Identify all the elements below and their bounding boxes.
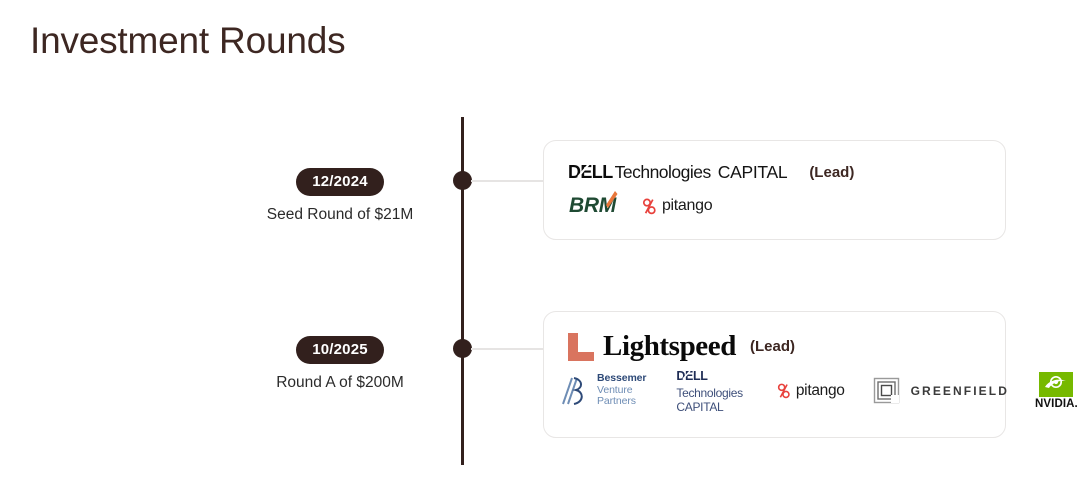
round-1-lead-investor-row: DELL Technologies CAPITAL (Lead) <box>568 162 854 183</box>
investment-rounds-page: Investment Rounds 12/2024 Seed Round of … <box>0 0 1080 480</box>
greenfield-mark-icon <box>873 377 900 404</box>
nvidia-wordmark: NVIDIA. <box>1035 398 1078 410</box>
brm-accent-icon <box>604 191 618 209</box>
nvidia-eye-icon <box>1039 372 1073 397</box>
round-1-description: Seed Round of $21M <box>245 206 435 224</box>
pitango-mark-icon <box>777 383 791 399</box>
bessemer-mark-icon <box>558 374 591 407</box>
dell-wordmark: DELL <box>568 162 613 183</box>
round-2-description: Round A of $200M <box>245 374 435 392</box>
round-1-date-badge: 12/2024 <box>296 168 384 196</box>
pitango-logo-round-2: pitango <box>777 382 845 400</box>
dell-wordmark-small: DELL <box>676 369 707 384</box>
lightspeed-logo: Lightspeed <box>566 330 736 363</box>
lightspeed-wordmark: Lightspeed <box>603 330 736 363</box>
round-2-secondary-investors-row: Bessemer Venture Partners DELL Technolog… <box>558 367 1078 414</box>
round-1-lead-tag: (Lead) <box>809 164 854 181</box>
bessemer-venture-partners-logo: Bessemer Venture Partners <box>558 373 646 408</box>
timeline-dot-round-1[interactable] <box>453 171 472 190</box>
dell-slash-icon-small <box>682 370 691 380</box>
round-1-label-block: 12/2024 Seed Round of $21M <box>245 168 435 224</box>
round-1-secondary-investors-row: BRM pitango <box>569 194 712 218</box>
round-2-investors-card: Lightspeed (Lead) Bessemer Venture Partn… <box>543 311 1006 438</box>
timeline-connector-1 <box>471 180 545 182</box>
lightspeed-mark-icon <box>566 332 595 362</box>
round-2-lead-investor-row: Lightspeed (Lead) <box>566 330 795 363</box>
round-2-label-block: 10/2025 Round A of $200M <box>245 336 435 392</box>
round-2-date-badge: 10/2025 <box>296 336 384 364</box>
pitango-logo: pitango <box>642 197 712 215</box>
timeline-axis <box>461 117 464 465</box>
bessemer-line-1: Bessemer <box>597 373 646 385</box>
greenfield-logo: GREENFIELD <box>873 377 1009 404</box>
round-2-lead-tag: (Lead) <box>750 338 795 355</box>
bessemer-wordmark: Bessemer Venture Partners <box>597 373 646 408</box>
dell-slash-icon <box>577 163 590 178</box>
brm-logo: BRM <box>569 194 616 218</box>
timeline-dot-round-2[interactable] <box>453 339 472 358</box>
round-1-investors-card: DELL Technologies CAPITAL (Lead) BRM <box>543 140 1006 240</box>
dell-technologies-capital-logo-stacked: DELL Technologies CAPITAL <box>676 367 742 414</box>
dell-capital-text-small: CAPITAL <box>676 400 742 414</box>
timeline-connector-2 <box>471 348 545 350</box>
dell-capital-text: CAPITAL <box>718 162 788 183</box>
dell-technologies-text: Technologies <box>615 162 711 183</box>
pitango-mark-icon <box>642 198 657 215</box>
dell-technologies-text-small: Technologies <box>676 386 742 400</box>
pitango-wordmark: pitango <box>796 382 845 400</box>
bessemer-line-3: Partners <box>597 396 646 408</box>
page-title: Investment Rounds <box>30 20 345 62</box>
nvidia-logo: NVIDIA. <box>1035 372 1078 410</box>
greenfield-wordmark: GREENFIELD <box>911 384 1009 398</box>
dell-technologies-capital-logo: DELL Technologies CAPITAL <box>568 162 787 183</box>
pitango-wordmark: pitango <box>662 197 712 215</box>
